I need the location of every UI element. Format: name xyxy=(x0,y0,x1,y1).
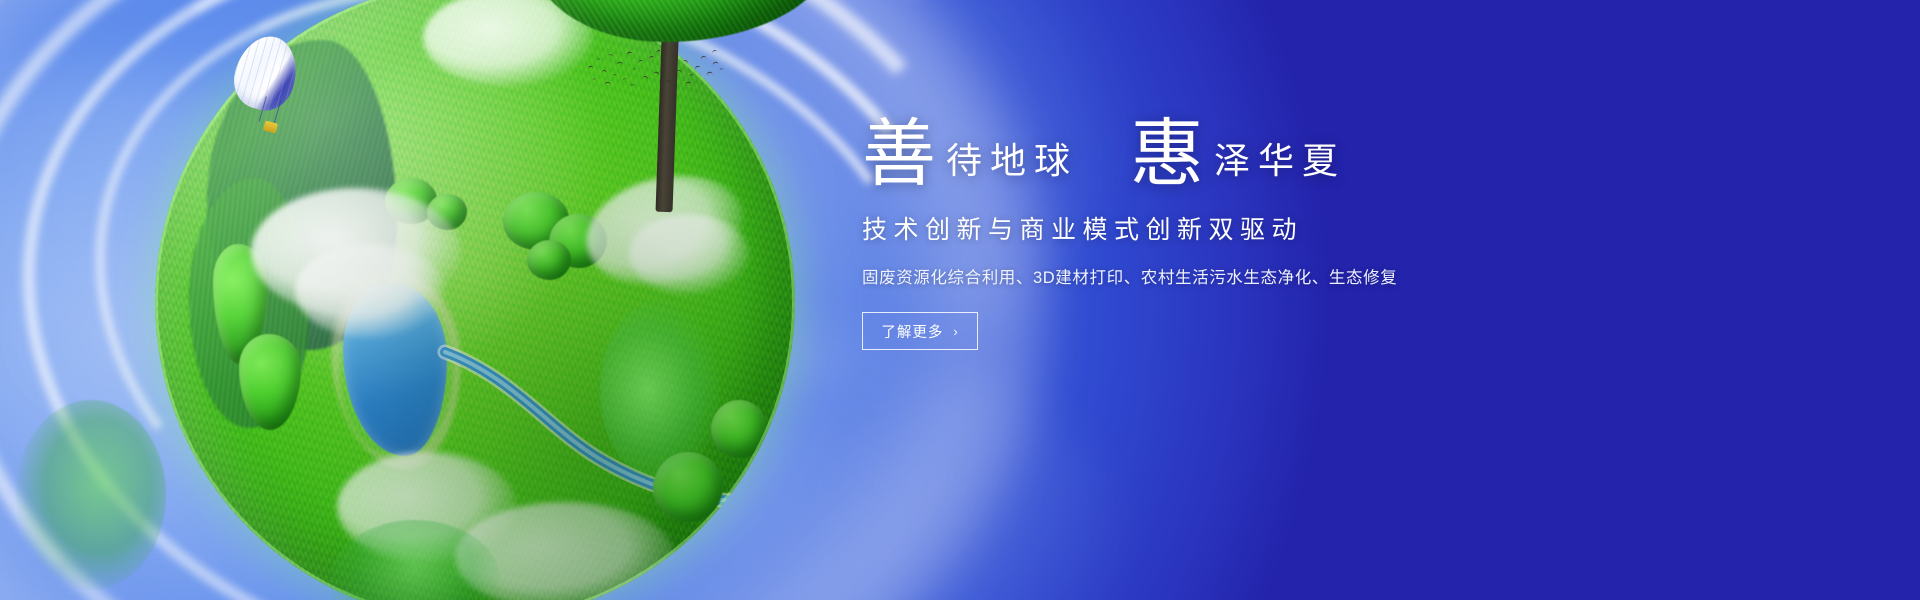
bird-icon xyxy=(604,81,610,85)
page-title: 善 待地球 惠 泽华夏 xyxy=(862,120,1562,188)
foreground-tree xyxy=(16,400,166,590)
bird-icon xyxy=(666,79,672,84)
learn-more-label: 了解更多 xyxy=(881,321,943,342)
bird-icon xyxy=(596,58,600,61)
hero-description: 固废资源化综合利用、3D建材打印、农村生活污水生态净化、生态修复 xyxy=(862,264,1562,288)
bird-icon xyxy=(638,59,644,63)
headline-part1-small: 待地球 xyxy=(946,144,1078,188)
bird-icon xyxy=(592,78,597,82)
bird-icon xyxy=(608,54,613,58)
bird-icon xyxy=(630,84,635,87)
bird-icon xyxy=(602,70,608,74)
bird-icon xyxy=(626,51,633,56)
hero-banner: 善 待地球 惠 泽华夏 技术创新与商业模式创新双驱动 固废资源化综合利用、3D建… xyxy=(0,0,1920,600)
bird-icon xyxy=(712,49,718,53)
chevron-right-icon: › xyxy=(953,324,958,339)
bird-icon xyxy=(656,50,661,54)
bird-icon xyxy=(648,55,654,60)
headline-part1-big: 善 xyxy=(862,120,936,188)
bird-icon xyxy=(719,68,723,71)
bird-icon xyxy=(616,62,622,66)
bird-icon xyxy=(694,65,700,70)
bird-icon xyxy=(689,73,694,77)
bird-icon xyxy=(683,59,689,63)
headline-part2-big: 惠 xyxy=(1130,120,1204,188)
bird-icon xyxy=(712,61,719,66)
balloon-basket xyxy=(263,120,278,133)
bird-icon xyxy=(622,78,626,81)
headline-part2-small: 泽华夏 xyxy=(1214,144,1346,188)
hero-content: 善 待地球 惠 泽华夏 技术创新与商业模式创新双驱动 固废资源化综合利用、3D建… xyxy=(862,120,1562,350)
bird-icon xyxy=(660,64,665,68)
bird-flock-icon xyxy=(586,48,726,92)
learn-more-button[interactable]: 了解更多 › xyxy=(862,312,978,350)
bird-icon xyxy=(612,74,617,77)
tree-canopy xyxy=(533,0,833,42)
bird-icon xyxy=(686,82,692,86)
bird-icon xyxy=(642,75,648,80)
hot-air-balloon-icon xyxy=(236,36,296,140)
hero-subtitle: 技术创新与商业模式创新双驱动 xyxy=(862,210,1562,246)
foreground-tree xyxy=(600,300,720,480)
bird-icon xyxy=(706,71,713,76)
bird-icon xyxy=(672,54,677,58)
bird-icon xyxy=(700,55,706,60)
bird-icon xyxy=(588,66,594,70)
bird-icon xyxy=(677,69,683,73)
bird-icon xyxy=(653,71,660,76)
bird-icon xyxy=(632,68,637,72)
